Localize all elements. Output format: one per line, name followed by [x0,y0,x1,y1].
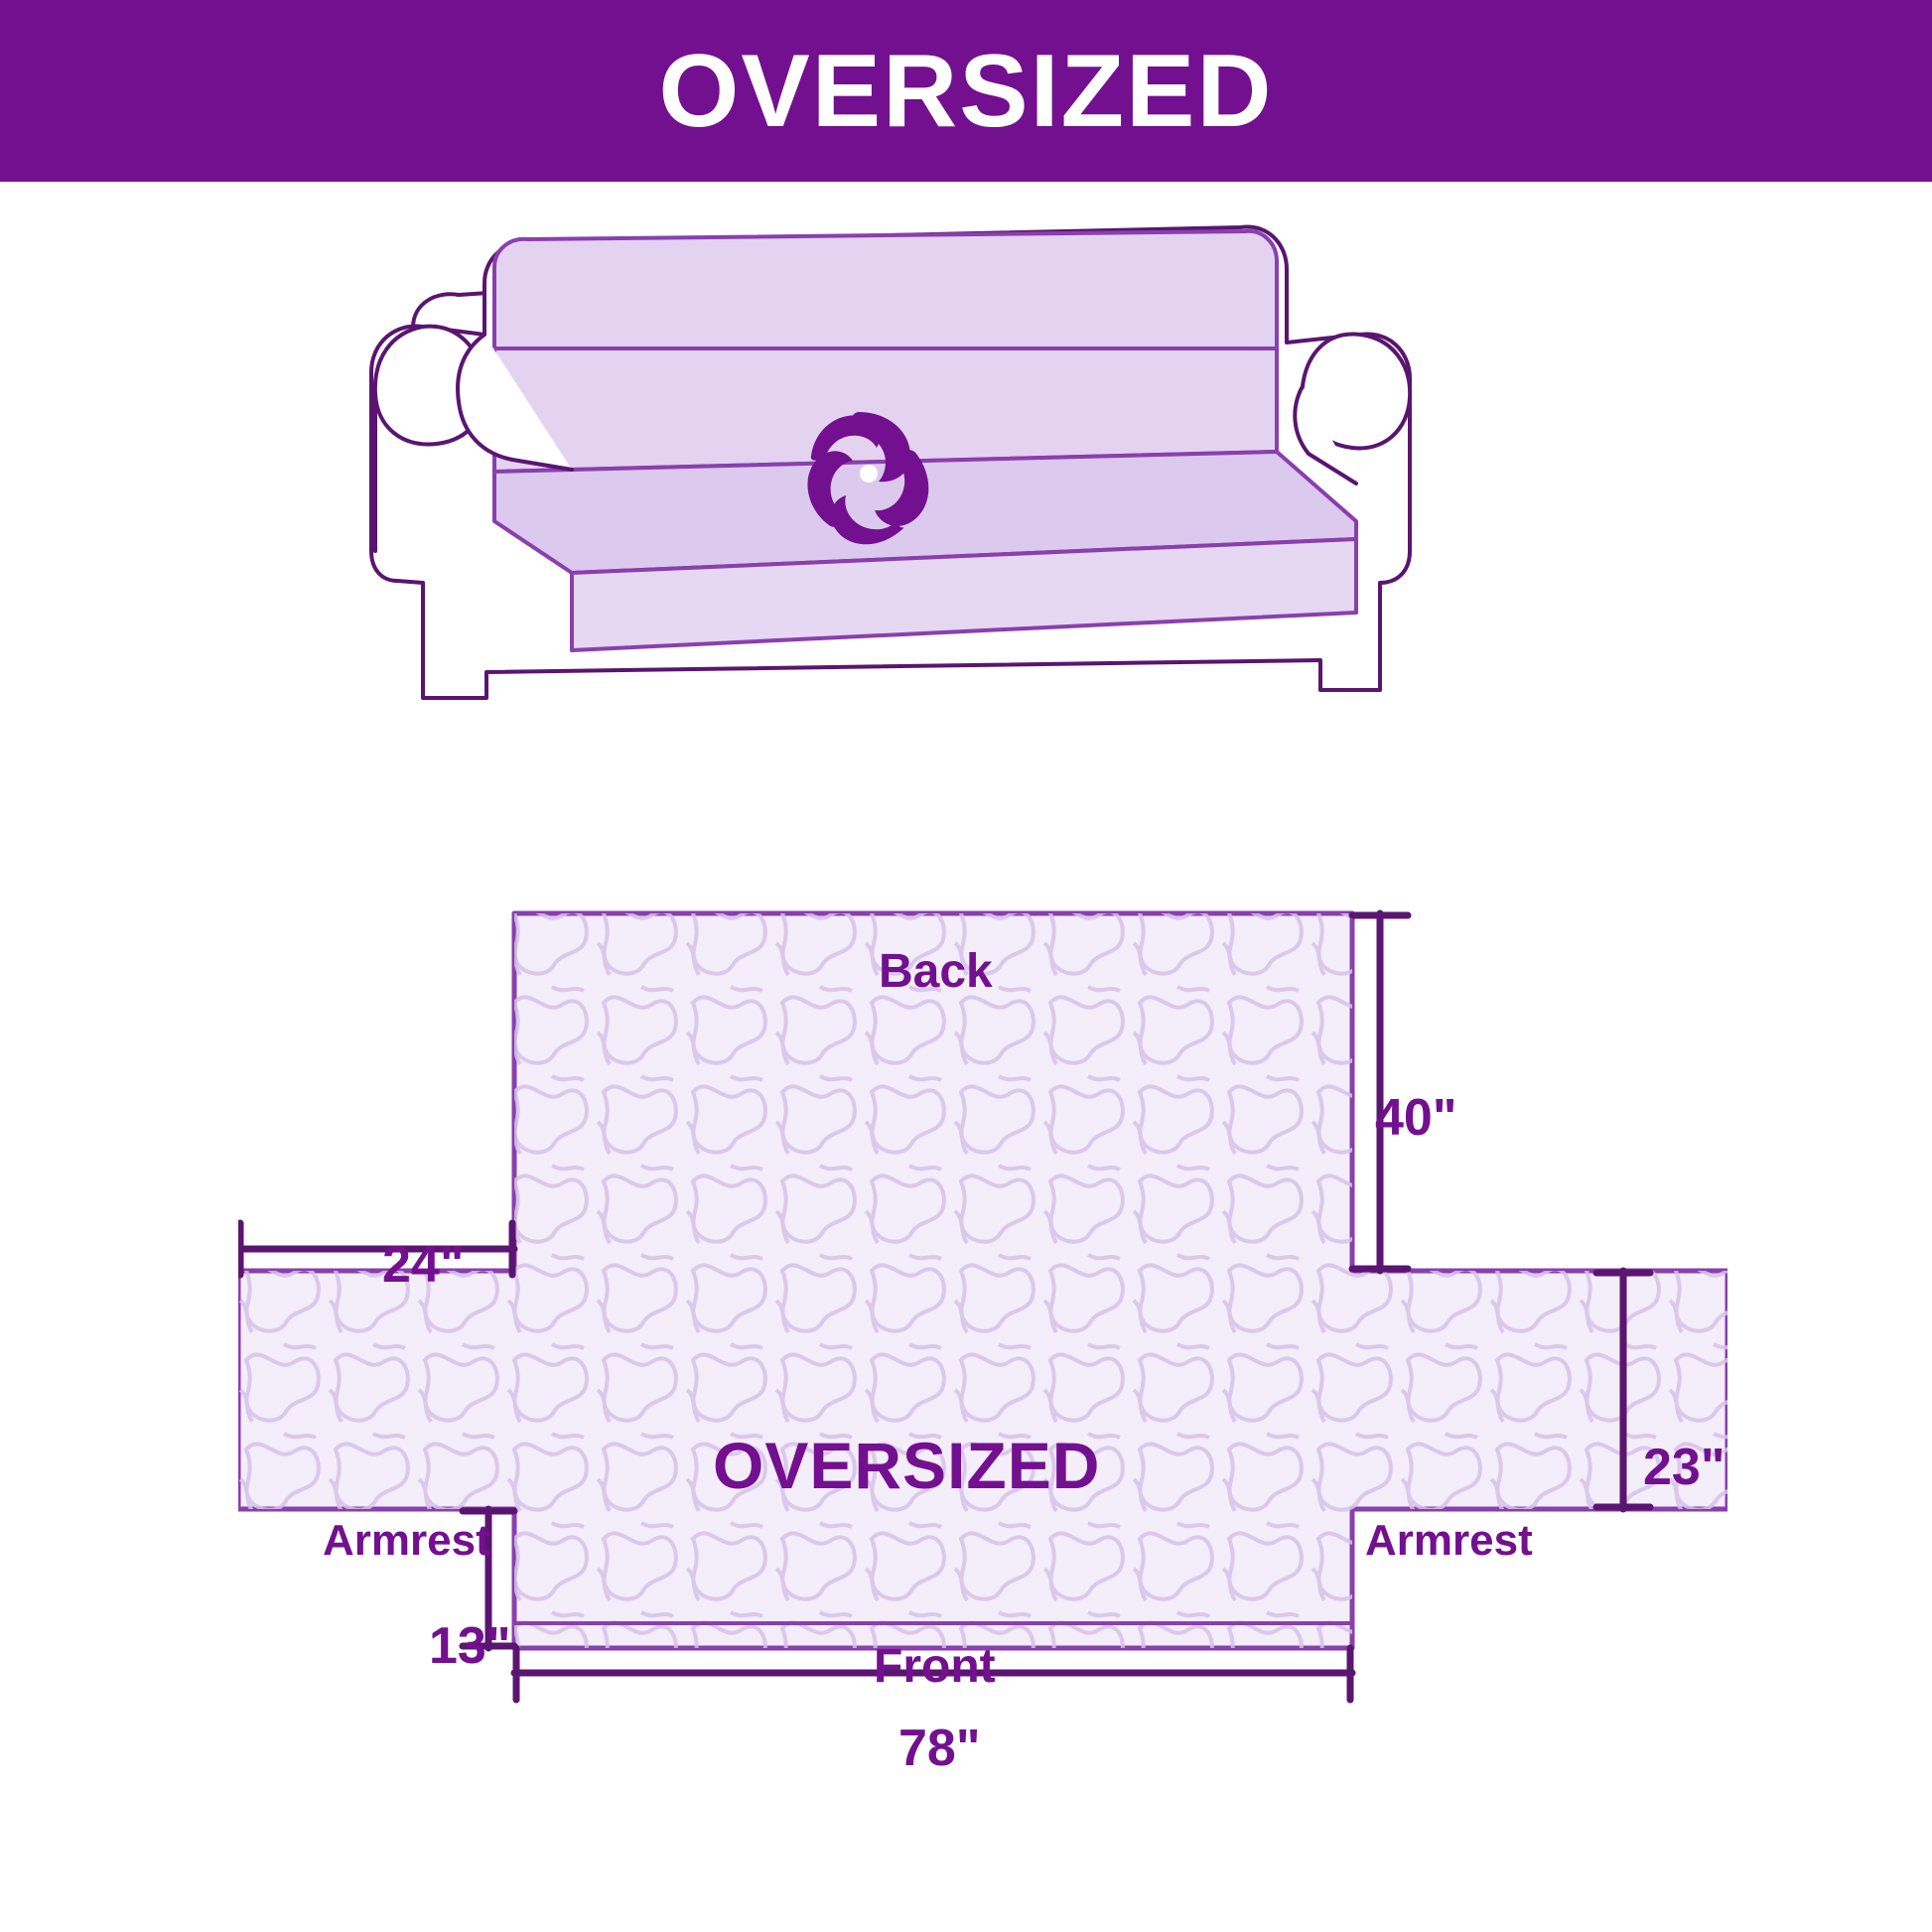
dimension-label-back-height: 40" [1375,1092,1457,1144]
dimension-label-armrest-height: 23" [1643,1442,1725,1493]
region-label-armrest-right: Armrest [1365,1519,1533,1563]
dimension-label-back-offset: 24" [382,1239,465,1291]
header-banner: OVERSIZED [0,0,1932,182]
dimension-label-total-width: 78" [898,1723,981,1774]
cover-center-label: OVERSIZED [713,1433,1100,1498]
dimension-24 [238,1223,514,1275]
sofa-illustration [367,223,1579,849]
dimension-label-front-offset: 13" [429,1620,511,1672]
page-title: OVERSIZED [659,40,1274,143]
region-label-front: Front [874,1643,996,1691]
region-label-armrest-left: Armrest [323,1519,490,1563]
region-label-back: Back [879,948,993,996]
